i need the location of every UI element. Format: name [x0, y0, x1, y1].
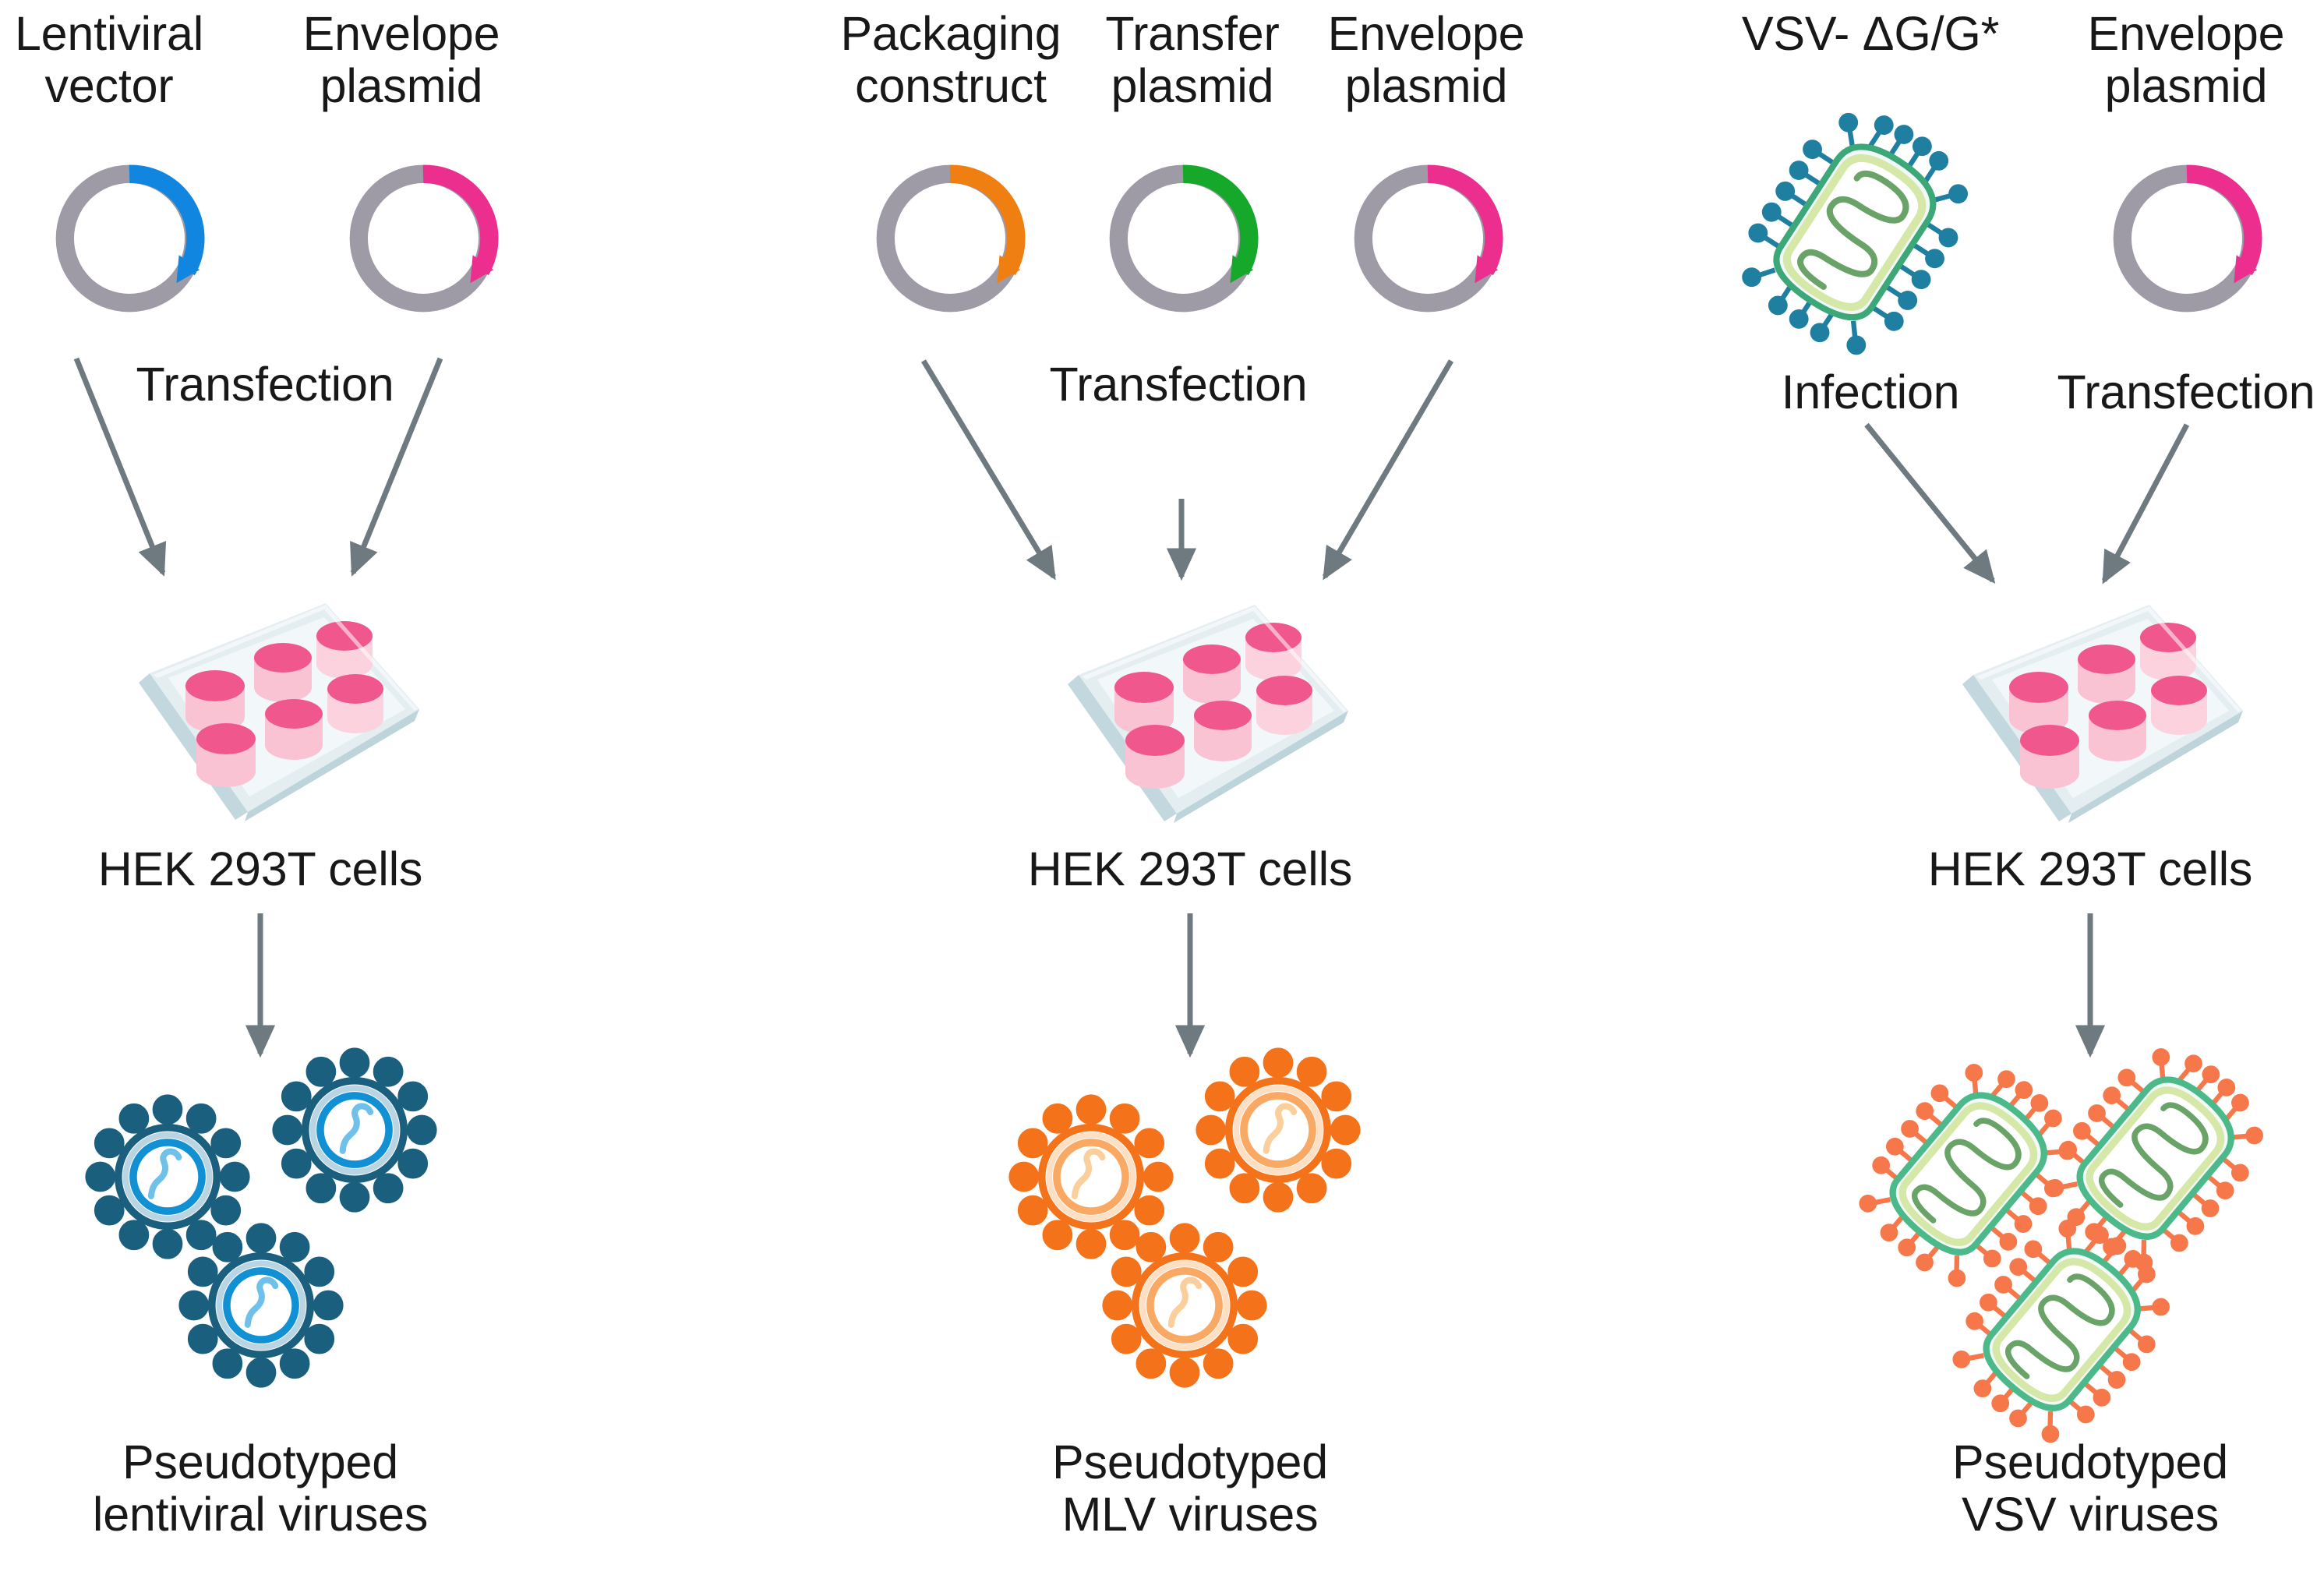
plasmid-icon-lentiviral-vector [47, 156, 212, 321]
six-well-plate-icon-2 [1030, 594, 1358, 828]
label-product-lentiviral: Pseudotyped lentiviral viruses [34, 1436, 486, 1541]
label-transfer-plasmid: Transfer plasmid [1068, 8, 1317, 112]
label-transfection-1: Transfection [109, 358, 421, 411]
lentivirus-particle-icon-2 [265, 1040, 444, 1220]
label-vsv-dg-gstar: VSV- ΔG/G* [1715, 8, 2026, 60]
lentivirus-particle-icon-3 [171, 1216, 351, 1395]
plasmid-icon-envelope-2 [1345, 156, 1510, 321]
mlv-particle-icon-3 [1095, 1216, 1274, 1395]
label-envelope-plasmid-1: Envelope plasmid [277, 8, 526, 112]
label-product-mlv: Pseudotyped MLV viruses [995, 1436, 1385, 1541]
six-well-plate-icon-1 [101, 592, 429, 826]
label-envelope-plasmid-2: Envelope plasmid [1302, 8, 1551, 112]
label-hek-cells-2: HEK 293T cells [995, 843, 1385, 895]
label-transfection-2: Transfection [1022, 358, 1334, 411]
plasmid-icon-packaging-construct [867, 156, 1033, 321]
mlv-particle-icon-2 [1188, 1040, 1368, 1220]
label-infection-3: Infection [1738, 366, 2003, 418]
label-hek-cells-3: HEK 293T cells [1895, 843, 2285, 895]
six-well-plate-icon-3 [1925, 594, 2252, 828]
label-envelope-plasmid-3: Envelope plasmid [2057, 8, 2315, 112]
plasmid-icon-envelope-3 [2104, 156, 2269, 321]
label-hek-cells-1: HEK 293T cells [65, 843, 455, 895]
label-product-vsv: Pseudotyped VSV viruses [1895, 1436, 2285, 1541]
label-packaging-construct: Packaging construct [811, 8, 1091, 112]
plasmid-icon-transfer-plasmid [1100, 156, 1266, 321]
pseudotyped-vsv-particle-icon-3 [1964, 1224, 2182, 1434]
figure-canvas: Lentiviral vector Envelope plasmid Trans… [0, 0, 2324, 1582]
plasmid-icon-envelope-1 [341, 156, 506, 321]
vsv-bullet-virus-icon [1750, 117, 1983, 343]
label-transfection-3: Transfection [2042, 366, 2324, 418]
process-arrows-vsv [1867, 425, 2187, 581]
label-lentiviral-vector: Lentiviral vector [0, 8, 234, 112]
